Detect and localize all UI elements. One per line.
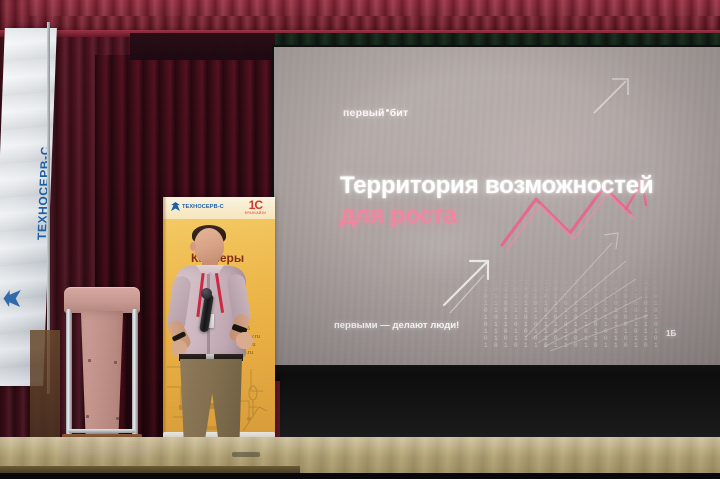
speaker-hand-right [236, 332, 253, 349]
podium-top-surface [64, 287, 140, 313]
rollup-technoserv-logo: ТЕХНОСЕРВ-С [171, 202, 224, 211]
curtain-valance-upper [28, 0, 720, 16]
podium-leg-right [132, 309, 138, 437]
rollup-1c-small-text: ФРАНЧАЙЗИ [245, 211, 266, 215]
podium [58, 287, 146, 445]
stage-cabinet [30, 330, 60, 438]
stage-back-drape [280, 375, 720, 439]
stage-front-edge [0, 473, 720, 479]
podium-screw [114, 361, 117, 364]
podium-screw [86, 415, 89, 418]
technoserv-mark-icon [171, 202, 180, 211]
podium-screw [88, 359, 91, 362]
podium-screw [116, 417, 119, 420]
podium-leg-left [66, 309, 72, 437]
stage-floor-patch [232, 452, 260, 457]
speaker-ear [190, 242, 196, 251]
rollup-logo-primary-text: ТЕХНОСЕРВ-С [182, 204, 224, 210]
curtain-green-band-left [130, 33, 275, 60]
rollup-1c-big-text: 1C [245, 200, 266, 211]
podium-lower-rail [68, 429, 136, 433]
projection-screen: 1 0 1 1 0 1 0 0 1 1 0 1 1 0 0 1 0 10 1 1… [274, 47, 720, 367]
speaker [168, 228, 260, 463]
podium-reflection [60, 446, 150, 462]
speaker-trousers [180, 359, 242, 441]
speaker-head [194, 228, 224, 264]
screen-vignette [274, 47, 720, 367]
rollup-1c-logo: 1C ФРАНЧАЙЗИ [245, 200, 266, 215]
presentation-photo: 1 0 1 1 0 1 0 0 1 1 0 1 1 0 0 1 0 10 1 1… [0, 0, 720, 479]
podium-front-panel [78, 311, 126, 439]
